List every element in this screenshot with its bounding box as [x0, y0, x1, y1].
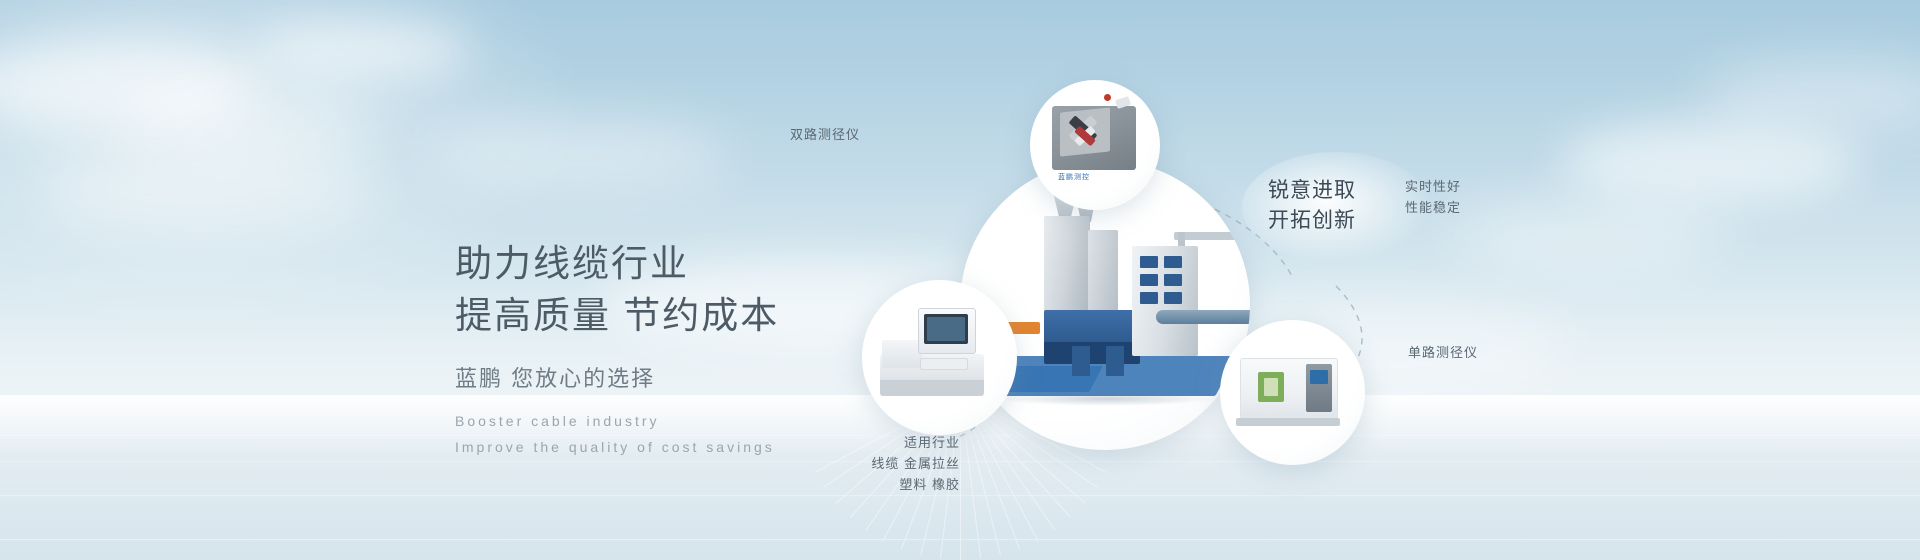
- bubble-control-console: [862, 280, 1017, 435]
- cloud-icon: [120, 90, 380, 160]
- label-feature-line-1: 实时性好: [1405, 176, 1461, 197]
- label-single-gauge: 单路测径仪: [1408, 342, 1478, 363]
- label-industry-line-2: 塑料 橡胶: [780, 474, 960, 495]
- console-unit: [882, 340, 922, 368]
- cloud-icon: [430, 120, 730, 190]
- line-tower: [1088, 230, 1118, 312]
- label-industries: 适用行业 线缆 金属拉丝 塑料 橡胶: [780, 432, 960, 495]
- device-brand-mark: 蓝鹏测控: [1058, 172, 1090, 182]
- bubble-single-gauge: [1220, 320, 1365, 465]
- label-feature-line-2: 性能稳定: [1405, 197, 1461, 218]
- hero-banner: 助力线缆行业 提高质量 节约成本 蓝鹏 您放心的选择 Booster cable…: [0, 0, 1920, 560]
- label-industry-title: 适用行业: [780, 432, 960, 453]
- single-gauge-display: [1310, 370, 1328, 384]
- slogan-block: 锐意进取 开拓创新: [1268, 176, 1398, 236]
- bubble-dual-gauge: 蓝鹏测控: [1030, 80, 1160, 210]
- label-dual-gauge: 双路测径仪: [790, 124, 860, 145]
- single-gauge-window-inner: [1264, 378, 1278, 396]
- line-conveyor-tube: [1156, 310, 1250, 324]
- line-shadow: [1000, 392, 1214, 406]
- console-keyboard: [920, 358, 968, 370]
- line-blue-module: [1106, 346, 1124, 376]
- console-screen-inner: [927, 317, 965, 341]
- slogan-line-2: 开拓创新: [1268, 206, 1398, 236]
- line-rail: [1174, 232, 1250, 240]
- cloud-icon: [40, 150, 380, 230]
- label-industry-line-1: 线缆 金属拉丝: [780, 453, 960, 474]
- console-desk-front: [880, 380, 984, 396]
- single-gauge-base: [1236, 418, 1340, 426]
- dual-gauge-indicator: [1104, 94, 1111, 101]
- line-blue-module: [1072, 346, 1090, 376]
- line-extruder-base: [1044, 342, 1140, 364]
- slogan-line-1: 锐意进取: [1268, 176, 1398, 206]
- product-cluster: 蓝鹏测控 锐意进取 开拓创新 双路测径仪: [900, 80, 1920, 530]
- cloud-icon: [250, 20, 470, 80]
- label-features: 实时性好 性能稳定: [1405, 176, 1461, 218]
- line-control-cabinet: [1132, 246, 1198, 356]
- line-tower: [1044, 216, 1090, 312]
